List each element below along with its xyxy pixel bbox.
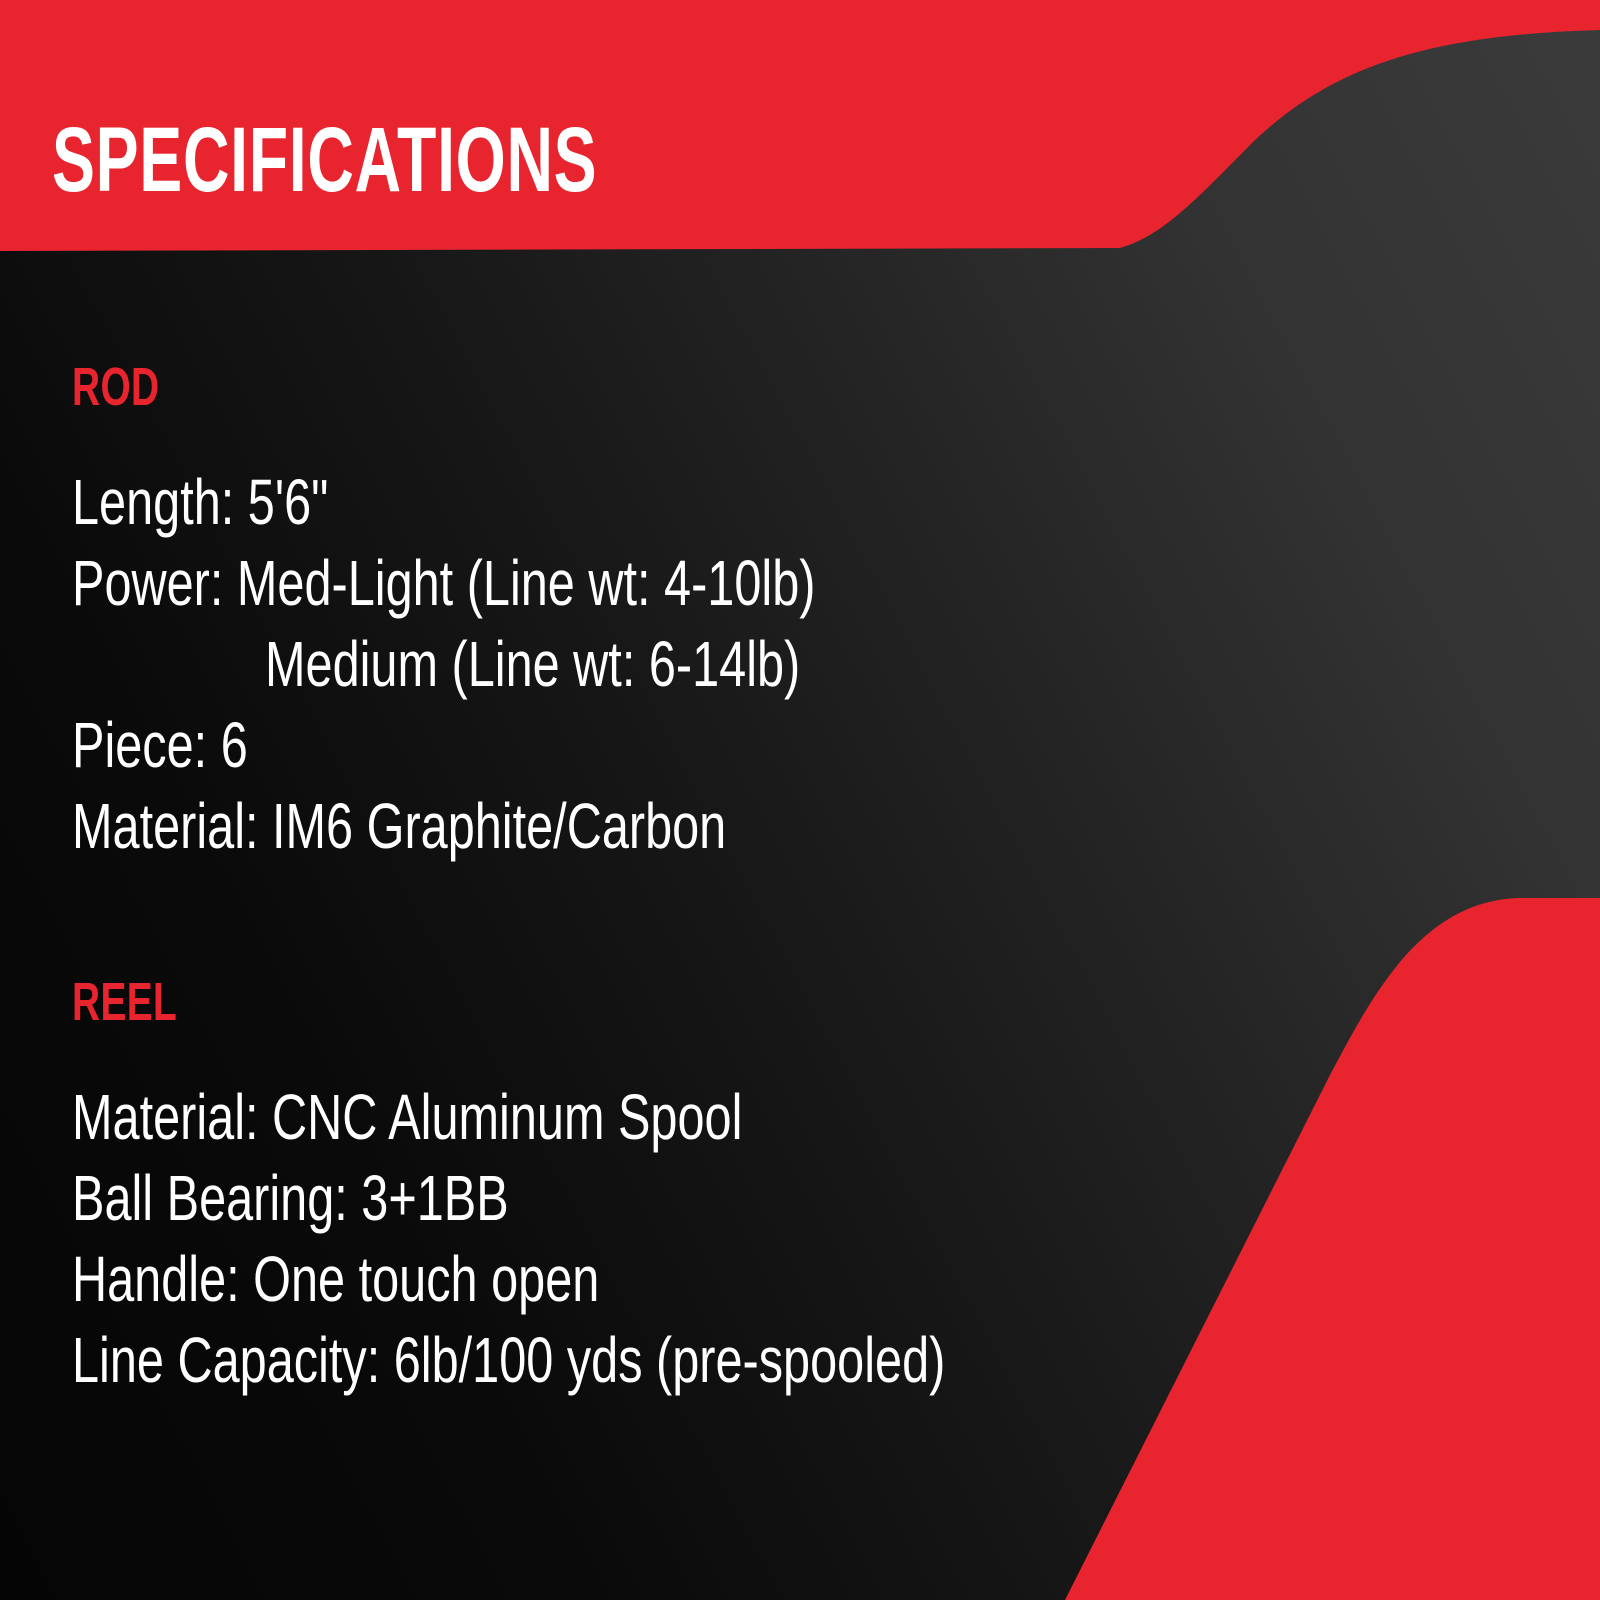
section-heading-rod: ROD (72, 360, 884, 414)
page-title: SPECIFICATIONS (52, 114, 597, 206)
spec-list-reel: Material: CNC Aluminum Spool Ball Bearin… (0, 1077, 1200, 1401)
spec-line-rod-length: Length: 5'6" (72, 462, 929, 543)
spec-line-reel-handle: Handle: One touch open (72, 1239, 929, 1320)
card-content: SPECIFICATIONS ROD Length: 5'6" Power: M… (0, 0, 1600, 1600)
section-heading-reel: REEL (72, 975, 884, 1029)
spec-line-rod-material: Material: IM6 Graphite/Carbon (72, 786, 929, 867)
section-reel: REEL Material: CNC Aluminum Spool Ball B… (0, 975, 1200, 1401)
spec-line-reel-line-capacity: Line Capacity: 6lb/100 yds (pre-spooled) (72, 1320, 929, 1401)
spec-line-rod-power: Power: Med-Light (Line wt: 4-10lb) (72, 543, 929, 624)
spec-line-reel-ball-bearing: Ball Bearing: 3+1BB (72, 1158, 929, 1239)
section-rod: ROD Length: 5'6" Power: Med-Light (Line … (0, 360, 1200, 867)
spec-line-reel-material: Material: CNC Aluminum Spool (72, 1077, 929, 1158)
spec-list-rod: Length: 5'6" Power: Med-Light (Line wt: … (0, 462, 1200, 867)
spec-line-rod-piece: Piece: 6 (72, 705, 929, 786)
spec-line-rod-power-medium: Medium (Line wt: 6-14lb) (265, 624, 976, 705)
specifications-card: SPECIFICATIONS ROD Length: 5'6" Power: M… (0, 0, 1600, 1600)
